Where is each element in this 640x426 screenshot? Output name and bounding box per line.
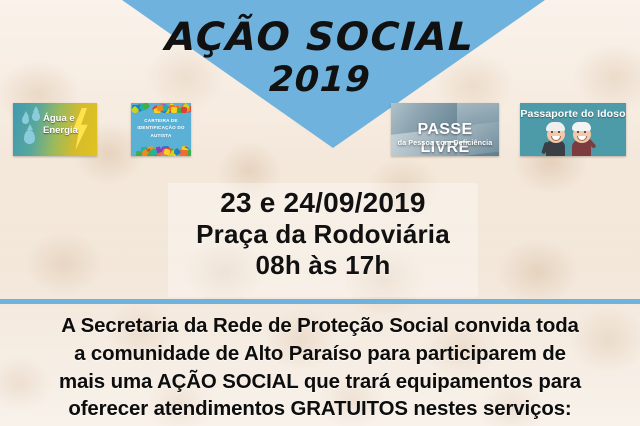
puzzle-piece-icon [182,149,188,155]
invitation-line: oferecer atendimentos GRATUITOS nestes s… [10,396,630,424]
card-passaporte-idoso[interactable]: Passaporte do Idoso [520,103,626,156]
invitation-line: A Secretaria da Rede de Proteção Social … [10,313,630,341]
event-time: 08h às 17h [168,251,478,281]
card-autista-line2: IDENTIFICAÇÃO DO [133,124,189,131]
card-passe-livre[interactable]: PASSE LIVRE da Pessoa com Deficiência [391,103,499,156]
card-agua-line1: Água e [43,113,89,125]
card-agua-e-energia[interactable]: Água e Energia [13,103,97,156]
invitation-paragraph: A Secretaria da Rede de Proteção Social … [10,313,630,424]
card-autista-line3: AUTISTA [133,132,189,139]
water-drop-icon [32,111,40,121]
card-autista-line1: CARTEIRA DE [133,117,189,124]
puzzle-piece-icon [131,103,191,113]
puzzle-piece-icon [171,107,177,113]
card-autista-label: CARTEIRA DE IDENTIFICAÇÃO DO AUTISTA [133,117,189,139]
card-idoso-title: Passaporte do Idoso [520,108,626,120]
card-agua-line2: Energia [43,125,89,137]
puzzle-piece-icon [131,146,191,156]
invitation-line: a comunidade de Alto Paraíso para partic… [10,341,630,369]
puzzle-piece-icon [136,150,143,156]
page-title: AÇÃO SOCIAL [0,18,640,59]
service-logo-row: Água e Energia CARTEIRA DE IDENTIFICAÇÃO… [0,103,640,157]
puzzle-piece-icon [180,106,187,113]
card-passe-subtitle: da Pessoa com Deficiência [391,138,499,147]
event-date: 23 e 24/09/2019 [168,187,478,219]
water-drop-icon [24,130,35,144]
event-poster: AÇÃO SOCIAL 2019 Água e Energia CARTEIRA… [0,0,640,426]
page-title-year: 2019 [0,61,640,100]
card-carteira-autista[interactable]: CARTEIRA DE IDENTIFICAÇÃO DO AUTISTA [131,103,191,156]
invitation-line: mais uma AÇÃO SOCIAL que trará equipamen… [10,369,630,397]
poster-title-block: AÇÃO SOCIAL 2019 [0,18,640,99]
event-place: Praça da Rodoviária [168,220,478,250]
blue-divider [0,299,640,304]
event-details-panel: 23 e 24/09/2019 Praça da Rodoviária 08h … [168,183,478,297]
card-agua-label: Água e Energia [43,113,89,137]
